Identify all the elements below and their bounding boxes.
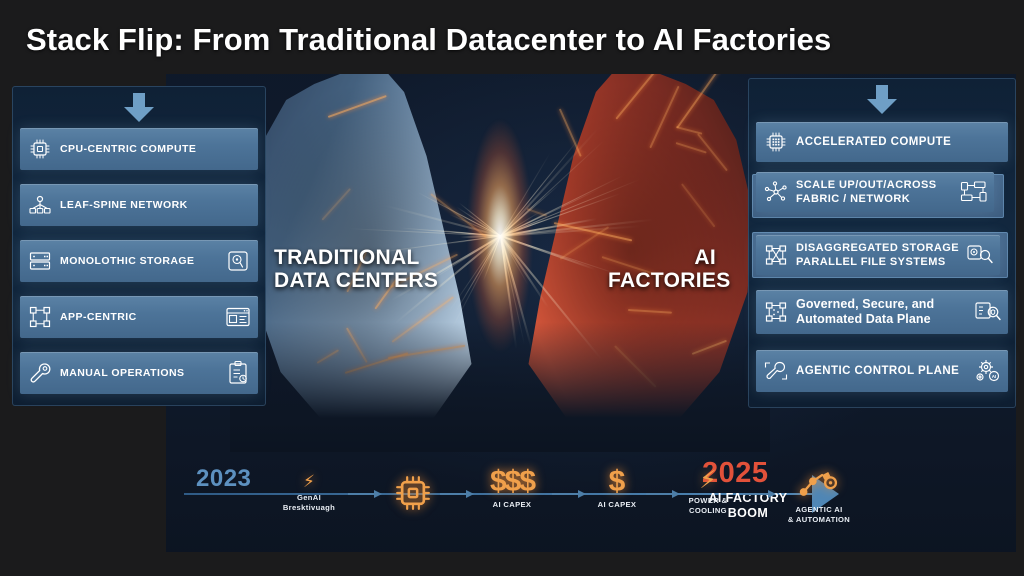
data-plane-icon (756, 300, 796, 324)
network-tree-icon (20, 193, 60, 217)
slide-root: TRADITIONAL DATA CENTERS AI FACTORIES 20… (0, 0, 1024, 576)
gear-ai-icon: AI (968, 358, 1008, 384)
stack-item-label: ACCELERATED COMPUTE (796, 136, 968, 149)
robot-arm-icon (799, 467, 839, 497)
nodes-graph-icon (20, 305, 60, 329)
ai-factories-label-line1: AI (608, 246, 716, 269)
traditional-stack-panel: CPU-CENTRIC COMPUTE LEAF-SPINE NETWORK (12, 86, 266, 406)
network-switch-icon (954, 180, 994, 204)
ai-factories-label: AI FACTORIES (608, 246, 716, 292)
stack-item-governed-data-plane[interactable]: Governed, Secure, and Automated Data Pla… (756, 290, 1008, 334)
stack-item-scale-fabric-network[interactable]: SCALE UP/OUT/ACROSS FABRIC / NETWORK (756, 172, 994, 212)
timeline: 2023 2025 AI FACTORY BOOM ⚡ GenAI Breskt… (176, 455, 836, 545)
timeline-node-genai-caption-line2: Bresktivuagh (272, 503, 346, 513)
clipboard-check-icon (218, 360, 258, 386)
timeline-connector-5 (742, 491, 778, 497)
triple-dollar-icon: $$$ (476, 467, 548, 497)
stack-item-label: LEAF-SPINE NETWORK (60, 199, 218, 212)
stack-item-label: AGENTIC CONTROL PLANE (796, 365, 968, 378)
timeline-node-agentic-caption-line2: & AUTOMATION (776, 515, 862, 525)
disk-search-icon (960, 243, 1000, 267)
timeline-node-power-caption-line2: COOLING (676, 506, 740, 516)
timeline-connector-2 (440, 491, 476, 497)
stack-item-app-centric[interactable]: APP-CENTRIC (20, 296, 258, 338)
lightning-bolt-icon: ⚡ (272, 473, 346, 490)
stack-item-label: Governed, Secure, and Automated Data Pla… (796, 297, 968, 327)
hard-disk-icon (218, 249, 258, 273)
page-title: Stack Flip: From Traditional Datacenter … (26, 22, 831, 58)
arrow-down-icon (122, 93, 156, 123)
stack-item-disaggregated-storage[interactable]: DISAGGREGATED STORAGE PARALLEL FILE SYST… (756, 235, 1000, 275)
timeline-node-agentic-caption-line1: AGENTIC AI (776, 505, 862, 515)
stack-item-label: MONOLOTHIC STORAGE (60, 255, 218, 268)
gpu-chip-icon (756, 130, 796, 154)
traditional-label-line2: DATA CENTERS (274, 269, 438, 292)
stack-item-label-line1: DISAGGREGATED STORAGE (796, 241, 960, 255)
stack-item-label-line1: SCALE UP/OUT/ACROSS (796, 178, 954, 192)
artwork-bottom-fade (230, 322, 770, 452)
ai-factories-label-line2: FACTORIES (608, 269, 716, 292)
arrow-down-icon (865, 85, 899, 115)
stack-item-label: CPU-CENTRIC COMPUTE (60, 143, 218, 156)
stack-item-manual-operations[interactable]: MANUAL OPERATIONS (20, 352, 258, 394)
timeline-node-capex[interactable]: $ AI CAPEX (586, 467, 648, 510)
stack-item-label: APP-CENTRIC (60, 311, 218, 324)
timeline-connector-1 (348, 491, 384, 497)
timeline-node-power[interactable]: ⚡ POWER & COOLING (676, 468, 740, 515)
fabric-mesh-icon (756, 180, 796, 204)
stack-item-label: MANUAL OPERATIONS (60, 367, 218, 380)
ai-factory-stack-panel: ACCELERATED COMPUTE SCALE UP/OUT/ACROSS (748, 78, 1016, 408)
timeline-node-genai[interactable]: ⚡ GenAI Bresktivuagh (272, 473, 346, 512)
dollar-icon: $ (586, 467, 648, 497)
stack-item-label: SCALE UP/OUT/ACROSS FABRIC / NETWORK (796, 178, 954, 206)
timeline-node-capex-caption: AI CAPEX (586, 500, 648, 510)
timeline-node-genai-caption-line1: GenAI (272, 493, 346, 503)
stack-item-label: DISAGGREGATED STORAGE PARALLEL FILE SYST… (796, 241, 960, 269)
wrench-icon (20, 361, 60, 385)
svg-text:AI: AI (992, 374, 997, 379)
power-bolt-icon: ⚡ (676, 468, 740, 493)
stack-item-monolothic-storage[interactable]: MONOLOTHIC STORAGE (20, 240, 258, 282)
stack-item-leaf-spine-network[interactable]: LEAF-SPINE NETWORK (20, 184, 258, 226)
stack-item-label-line2: FABRIC / NETWORK (796, 192, 954, 206)
stack-item-agentic-control-plane[interactable]: AGENTIC CONTROL PLANE AI (756, 350, 1008, 392)
stack-item-cpu-centric-compute[interactable]: CPU-CENTRIC COMPUTE (20, 128, 258, 170)
nodes-graph-icon (756, 243, 796, 267)
stack-item-label-line2: Automated Data Plane (796, 312, 968, 327)
timeline-start-year: 2023 (196, 465, 251, 493)
traditional-label-line1: TRADITIONAL (274, 246, 438, 269)
cpu-chip-icon (20, 137, 60, 161)
bottom-gutter (0, 552, 1024, 576)
server-rack-icon (20, 250, 60, 272)
timeline-node-capex-triple-caption: AI CAPEX (476, 500, 548, 510)
timeline-node-agentic[interactable]: AGENTIC AI & AUTOMATION (776, 467, 862, 524)
right-gutter (1016, 74, 1024, 576)
stack-item-label-line1: Governed, Secure, and (796, 297, 968, 312)
timeline-node-power-caption-line1: POWER & (676, 496, 740, 506)
traditional-label: TRADITIONAL DATA CENTERS (274, 246, 438, 292)
timeline-connector-3 (552, 491, 588, 497)
timeline-node-chip[interactable] (390, 473, 436, 518)
shield-search-icon (968, 300, 1008, 324)
timeline-node-capex-triple[interactable]: $$$ AI CAPEX (476, 467, 548, 510)
wrench-gear-icon (756, 359, 796, 383)
stack-item-label-line2: PARALLEL FILE SYSTEMS (796, 255, 960, 269)
cpu-chip-icon (393, 473, 433, 513)
stack-item-accelerated-compute[interactable]: ACCELERATED COMPUTE (756, 122, 1008, 162)
browser-window-icon (218, 306, 258, 328)
